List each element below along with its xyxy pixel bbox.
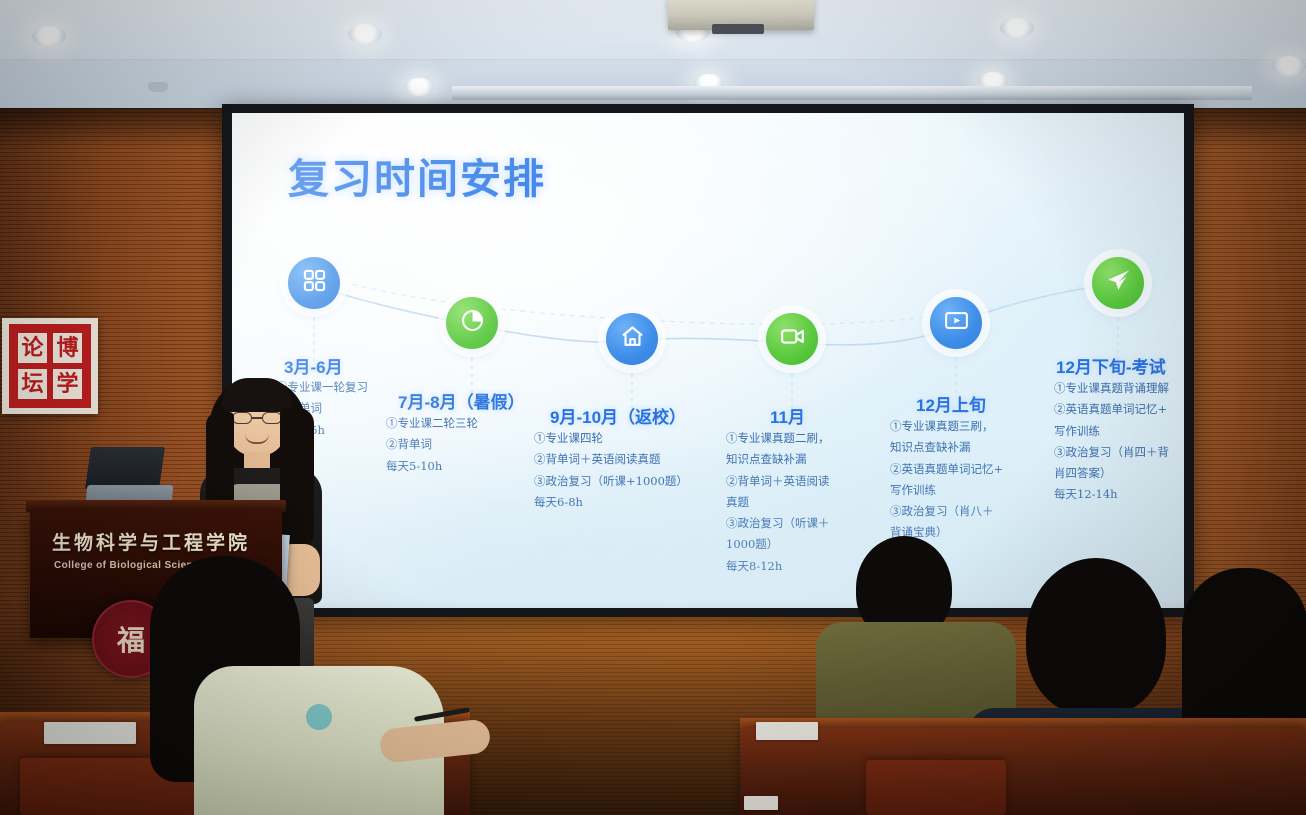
- timeline-line: ③政治复习（肖八＋: [890, 501, 1003, 522]
- lecture-hall-scene: 论 博 坛 学 复习时间安排: [0, 0, 1306, 815]
- chair-back-mid: [866, 760, 1006, 815]
- timeline-line: 每天8-12h: [726, 556, 830, 577]
- pie-chart-icon: [459, 307, 486, 339]
- ceiling-sprinkler: [148, 82, 168, 92]
- timeline-line: ③政治复习（听课+1000题）: [534, 471, 688, 492]
- timeline-line: ③政治复习（听课＋: [726, 513, 830, 534]
- presenter-hair-right: [280, 408, 314, 550]
- timeline-line: 真题: [726, 492, 830, 513]
- presenter-hair-front: [222, 378, 292, 412]
- timeline-node-2[interactable]: [446, 297, 498, 349]
- timeline-line: 写作训练: [1054, 421, 1169, 442]
- ceiling-downlight: [1000, 18, 1034, 38]
- timeline-line: 每天5-10h: [386, 456, 478, 477]
- paper-plane-icon: [1105, 267, 1132, 299]
- timeline-line: ①专业课四轮: [534, 428, 688, 449]
- seal-char: 论: [15, 330, 50, 366]
- podium-college-name-cn: 生物科学与工程学院: [52, 528, 250, 555]
- seal-grid: 论 博 坛 学: [9, 324, 91, 408]
- timeline-line: ②背单词: [386, 434, 478, 455]
- timeline-line: ③政治复习（肖四＋背: [1054, 442, 1169, 463]
- mid-desk-right: [740, 728, 1306, 815]
- timeline-period-2: 7月-8月（暑假）: [398, 388, 525, 413]
- timeline-period-6: 12月下旬-考试: [1056, 353, 1166, 378]
- ceiling-rail: [452, 86, 1252, 100]
- seal-char: 学: [50, 366, 85, 402]
- timeline-line: 写作训练: [890, 480, 1003, 501]
- forum-seal-banner: 论 博 坛 学: [2, 318, 98, 414]
- laptop-lid: [85, 447, 165, 489]
- timeline-line: ②背单词＋英语阅读真题: [534, 449, 688, 470]
- ceiling-downlight: [1272, 56, 1306, 76]
- desk-paper-left: [44, 722, 136, 744]
- timeline-period-4: 11月: [770, 403, 805, 428]
- timeline-line: ②英语真题单词记忆+: [1054, 399, 1169, 420]
- timeline-line: ②背单词＋英语阅读: [726, 471, 830, 492]
- timeline-line: 肖四答案）: [1054, 463, 1169, 484]
- ceiling: [0, 0, 1306, 118]
- timeline-node-5[interactable]: [930, 297, 982, 349]
- timeline-period-3: 9月-10月（返校）: [550, 403, 686, 428]
- timeline-lines-2: ①专业课二轮三轮 ②背单词 每天5-10h: [386, 413, 478, 477]
- timeline-line: ②英语真题单词记忆+: [890, 459, 1003, 480]
- ceiling-soffit: [0, 0, 1306, 60]
- seal-char: 博: [50, 330, 85, 366]
- audience-head: [1026, 558, 1166, 716]
- foreground-student: [130, 556, 480, 815]
- timeline-line: ①专业课二轮三轮: [386, 413, 478, 434]
- timeline-node-6[interactable]: [1092, 257, 1144, 309]
- ceiling-downlight: [348, 24, 382, 44]
- timeline-arc: [232, 113, 1184, 608]
- ceiling-downlight: [32, 26, 66, 46]
- presenter-glasses: [232, 412, 282, 424]
- timeline-line: 每天6-8h: [534, 492, 688, 513]
- grid-icon: [301, 267, 328, 299]
- timeline-line: 1000题）: [726, 534, 830, 555]
- foreground-student-shoulder-patch: [306, 704, 332, 730]
- timeline-line: ①专业课真题背诵理解: [1054, 378, 1169, 399]
- ceiling-projector: [668, 0, 814, 30]
- timeline-line: ①专业课真题二刷，: [726, 428, 830, 449]
- timeline-line: 知识点查缺补漏: [890, 437, 1003, 458]
- timeline-node-4[interactable]: [766, 313, 818, 365]
- play-box-icon: [943, 307, 970, 339]
- ceiling-downlight: [404, 78, 434, 96]
- video-camera-icon: [779, 323, 806, 355]
- seal-char: 坛: [15, 366, 50, 402]
- timeline-line: 知识点查缺补漏: [726, 449, 830, 470]
- timeline-lines-3: ①专业课四轮 ②背单词＋英语阅读真题 ③政治复习（听课+1000题） 每天6-8…: [534, 428, 688, 513]
- timeline-node-3[interactable]: [606, 313, 658, 365]
- timeline-period-5: 12月上旬: [916, 391, 986, 416]
- timeline-line: 每天12-14h: [1054, 484, 1169, 505]
- timeline-line: ①专业课真题三刷，: [890, 416, 1003, 437]
- desk-paper-mid: [756, 722, 818, 740]
- desk-paper-right: [744, 796, 778, 810]
- timeline-lines-6: ①专业课真题背诵理解 ②英语真题单词记忆+ 写作训练 ③政治复习（肖四＋背 肖四…: [1054, 378, 1169, 506]
- projection-screen: 复习时间安排: [232, 113, 1184, 608]
- home-icon: [619, 323, 646, 355]
- timeline-node-1[interactable]: [288, 257, 340, 309]
- timeline-lines-4: ①专业课真题二刷， 知识点查缺补漏 ②背单词＋英语阅读 真题 ③政治复习（听课＋…: [726, 428, 830, 577]
